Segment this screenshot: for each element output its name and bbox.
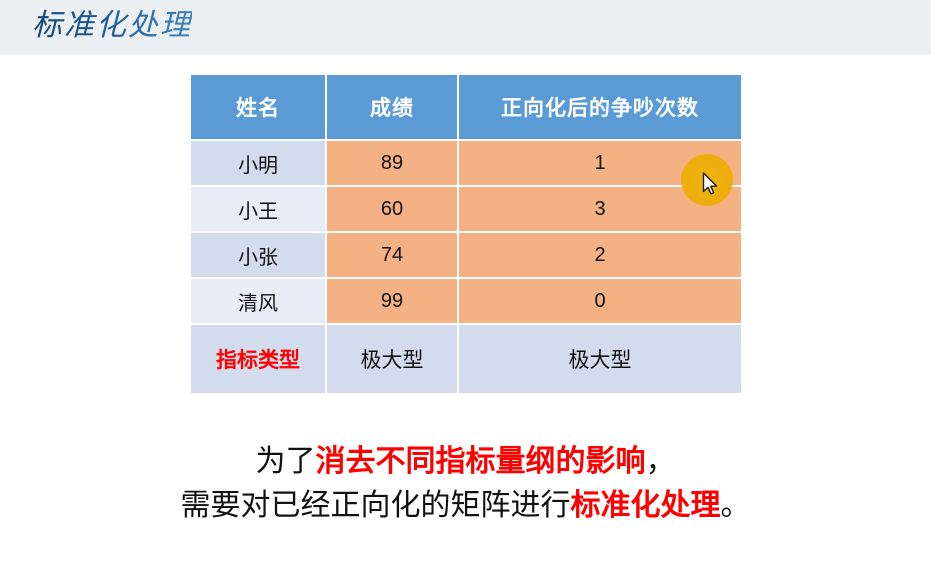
cell-score-type: 极大型 bbox=[326, 324, 458, 394]
cell-fights-type: 极大型 bbox=[458, 324, 742, 394]
column-header-name: 姓名 bbox=[190, 74, 326, 140]
cell-score: 74 bbox=[326, 232, 458, 278]
caption-line-2: 需要对已经正向化的矩阵进行标准化处理。 bbox=[0, 484, 931, 528]
cell-name: 小张 bbox=[190, 232, 326, 278]
caption-line1-suffix: ， bbox=[646, 445, 676, 478]
table-row: 小明 89 1 bbox=[190, 140, 742, 186]
page-title: 标准化处理 bbox=[32, 4, 192, 48]
cell-fights: 1 bbox=[458, 140, 742, 186]
cell-name: 小明 bbox=[190, 140, 326, 186]
cell-name: 清风 bbox=[190, 278, 326, 324]
cell-name: 小王 bbox=[190, 186, 326, 232]
caption-line2-suffix: 。 bbox=[721, 489, 751, 522]
column-header-fights: 正向化后的争吵次数 bbox=[458, 74, 742, 140]
table-row: 清风 99 0 bbox=[190, 278, 742, 324]
cell-fights: 3 bbox=[458, 186, 742, 232]
caption-line1-emphasis: 消去不同指标量纲的影响 bbox=[316, 445, 646, 478]
cell-fights: 2 bbox=[458, 232, 742, 278]
cell-score: 99 bbox=[326, 278, 458, 324]
table-header-row: 姓名 成绩 正向化后的争吵次数 bbox=[190, 74, 742, 140]
table-row-indicator-type: 指标类型 极大型 极大型 bbox=[190, 324, 742, 394]
cell-indicator-type-label: 指标类型 bbox=[190, 324, 326, 394]
cell-score: 60 bbox=[326, 186, 458, 232]
cell-fights: 0 bbox=[458, 278, 742, 324]
caption-line1-prefix: 为了 bbox=[256, 445, 316, 478]
caption-line2-prefix: 需要对已经正向化的矩阵进行 bbox=[181, 489, 571, 522]
caption-text: 为了消去不同指标量纲的影响， 需要对已经正向化的矩阵进行标准化处理。 bbox=[0, 440, 931, 528]
standardization-table: 姓名 成绩 正向化后的争吵次数 小明 89 1 小王 60 3 小张 74 2 … bbox=[189, 73, 743, 395]
table-row: 小张 74 2 bbox=[190, 232, 742, 278]
cell-score: 89 bbox=[326, 140, 458, 186]
column-header-score: 成绩 bbox=[326, 74, 458, 140]
caption-line-1: 为了消去不同指标量纲的影响， bbox=[0, 440, 931, 484]
slide-header-bar: 标准化处理 bbox=[0, 0, 931, 55]
table-row: 小王 60 3 bbox=[190, 186, 742, 232]
caption-line2-emphasis: 标准化处理 bbox=[571, 489, 721, 522]
